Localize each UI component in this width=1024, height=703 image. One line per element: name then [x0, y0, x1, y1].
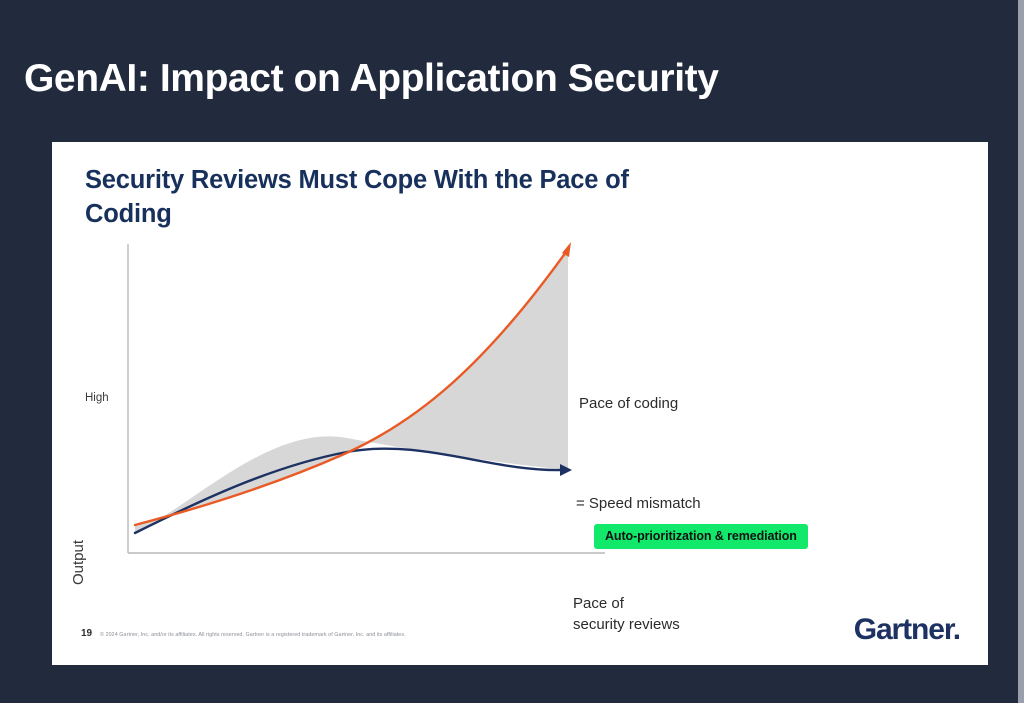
annotation-speed-mismatch: = Speed mismatch	[576, 494, 701, 515]
scrollbar-track[interactable]	[1018, 0, 1024, 703]
annotation-pace-of-security-reviews: Pace of security reviews	[573, 594, 680, 635]
slide-page-number: 19	[81, 628, 92, 639]
gartner-logo-trademark: .	[953, 613, 960, 646]
y-axis-title: Output	[70, 540, 87, 585]
annotation-pace-of-coding: Pace of coding	[579, 394, 678, 415]
speed-mismatch-band	[135, 250, 568, 533]
chart-container: High Low Output Time Pace of coding = Sp…	[52, 230, 988, 610]
copyright-notice: © 2024 Gartner, Inc. and/or its affiliat…	[100, 632, 406, 638]
page-title: GenAI: Impact on Application Security	[24, 58, 964, 101]
y-axis-high-label: High	[85, 392, 109, 404]
scrollbar-thumb[interactable]	[1018, 0, 1024, 703]
slide-viewer: GenAI: Impact on Application Security Se…	[0, 0, 1024, 703]
annotation-chip-auto-prioritization: Auto-prioritization & remediation	[594, 524, 808, 549]
slide-heading: Security Reviews Must Cope With the Pace…	[85, 164, 705, 231]
gartner-logo-text: Gartner	[854, 613, 953, 646]
slide-card: Security Reviews Must Cope With the Pace…	[52, 142, 988, 665]
chart-svg	[52, 230, 988, 610]
gartner-logo: Gartner.	[854, 613, 960, 647]
